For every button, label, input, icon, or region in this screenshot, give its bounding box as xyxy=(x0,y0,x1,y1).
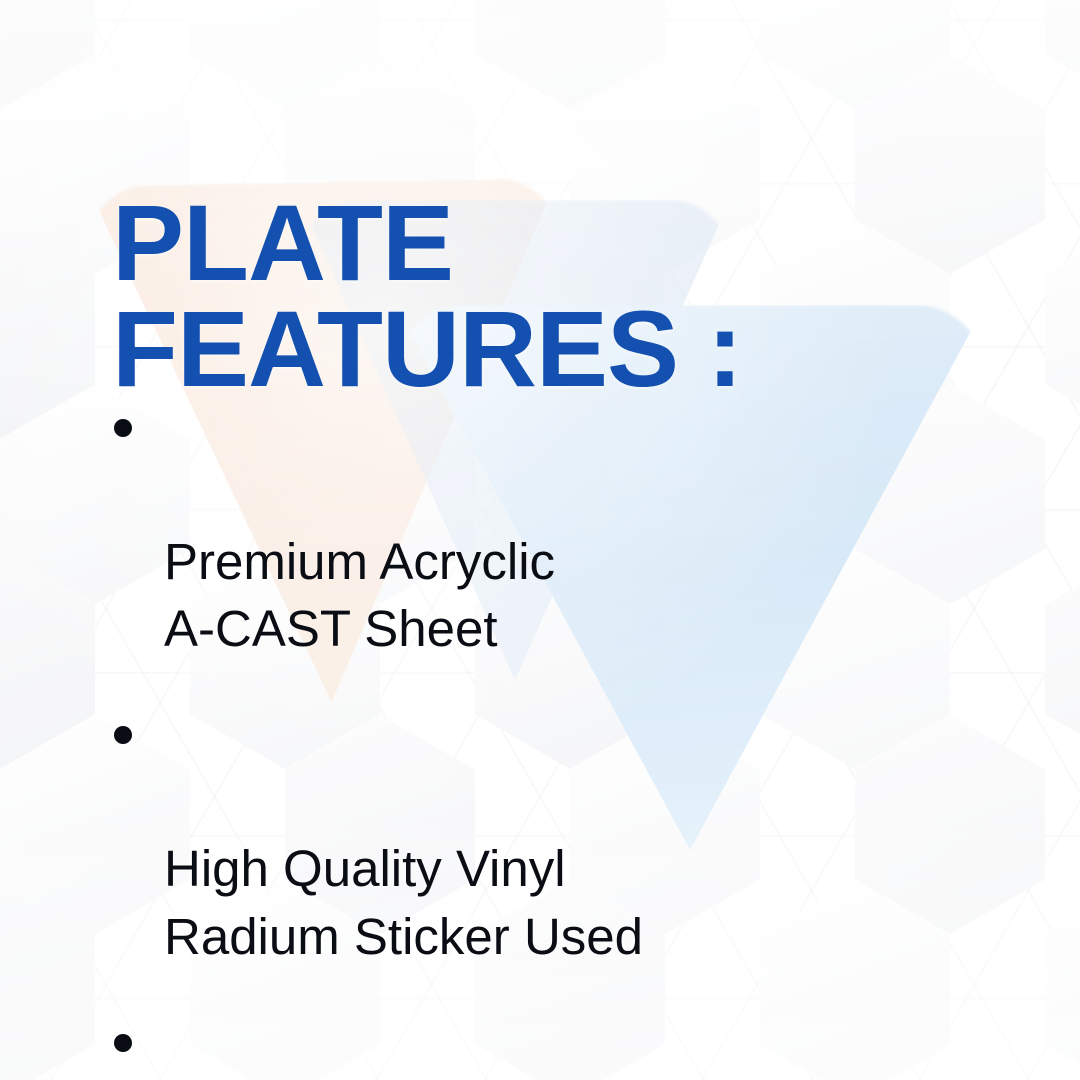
bullet-dot-icon xyxy=(114,1034,132,1052)
page-title: PLATE FEATURES : xyxy=(112,190,1012,402)
list-item: High Quality Vinyl Radium Sticker Used xyxy=(104,699,1004,970)
bullet-dot-icon xyxy=(114,726,132,744)
feature-text: Premium Acryclic A-CAST Sheet xyxy=(164,533,555,658)
feature-text: High Quality Vinyl Radium Sticker Used xyxy=(164,840,643,965)
content-area: PLATE FEATURES : Premium Acryclic A-CAST… xyxy=(0,0,1080,1080)
feature-list: Premium Acryclic A-CAST Sheet High Quali… xyxy=(104,392,1004,1080)
bullet-dot-icon xyxy=(114,419,132,437)
list-item: Premium Acryclic A-CAST Sheet xyxy=(104,392,1004,663)
poster-canvas: PLATE FEATURES : Premium Acryclic A-CAST… xyxy=(0,0,1080,1080)
list-item: Thikness 4mm ( Not Easily Breakable ) xyxy=(104,1007,1004,1080)
